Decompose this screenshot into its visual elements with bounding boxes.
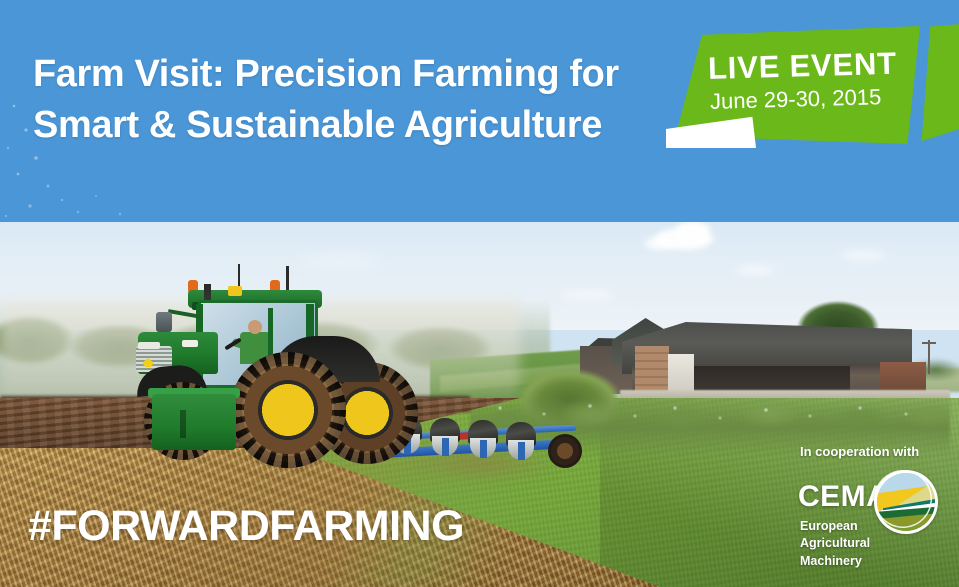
plough-share	[430, 418, 460, 452]
tractor-front-weight	[152, 394, 236, 450]
title-line-1: Farm Visit: Precision Farming for	[33, 49, 693, 100]
tractor-mirror	[156, 312, 172, 332]
cloud	[645, 237, 673, 250]
live-event-badge: LIVE EVENT June 29-30, 2015	[668, 26, 959, 150]
badge-label: LIVE EVENT	[708, 47, 919, 84]
plough-leg	[480, 440, 487, 458]
cema-name-line-3: Machinery	[800, 553, 870, 570]
tractor-headlight	[182, 340, 198, 347]
cema-name-line-1: European	[800, 518, 870, 535]
barn-open-bay	[690, 366, 850, 392]
plough-leg	[518, 442, 525, 460]
tractor-front-weight-slot	[180, 410, 186, 438]
cema-name-line-2: Agricultural	[800, 535, 870, 552]
tractor-and-plough	[120, 258, 470, 483]
tractor-rear-wheel-tread	[230, 352, 346, 468]
hedgerow-flowers	[470, 396, 950, 430]
campaign-hashtag: #FORWARDFARMING	[28, 505, 464, 548]
plough-leg	[442, 438, 449, 456]
event-banner: Farm Visit: Precision Farming for Smart …	[0, 0, 959, 587]
page-title: Farm Visit: Precision Farming for Smart …	[33, 49, 693, 150]
plough-share	[506, 422, 536, 456]
barn-white-door	[668, 354, 694, 394]
tractor-beacon-amber	[228, 286, 242, 296]
cloud	[840, 250, 886, 261]
plough-transport-wheel	[548, 434, 582, 468]
cloud	[676, 221, 710, 241]
cloud	[735, 265, 775, 275]
cema-full-name: European Agricultural Machinery	[800, 518, 870, 570]
tractor-driver-head	[248, 320, 262, 334]
cema-logo-rim	[874, 470, 932, 528]
plough-share	[468, 420, 498, 454]
barn-brick-stack	[635, 346, 669, 394]
cooperation-intro: In cooperation with	[800, 444, 919, 459]
utility-pole-arm	[922, 342, 936, 344]
tractor-headlight	[138, 342, 160, 349]
cema-logo-icon	[874, 470, 938, 534]
utility-pole	[928, 340, 930, 374]
title-line-2: Smart & Sustainable Agriculture	[33, 100, 693, 151]
cooperation-block: In cooperation with CEMA European Agricu…	[798, 444, 956, 566]
